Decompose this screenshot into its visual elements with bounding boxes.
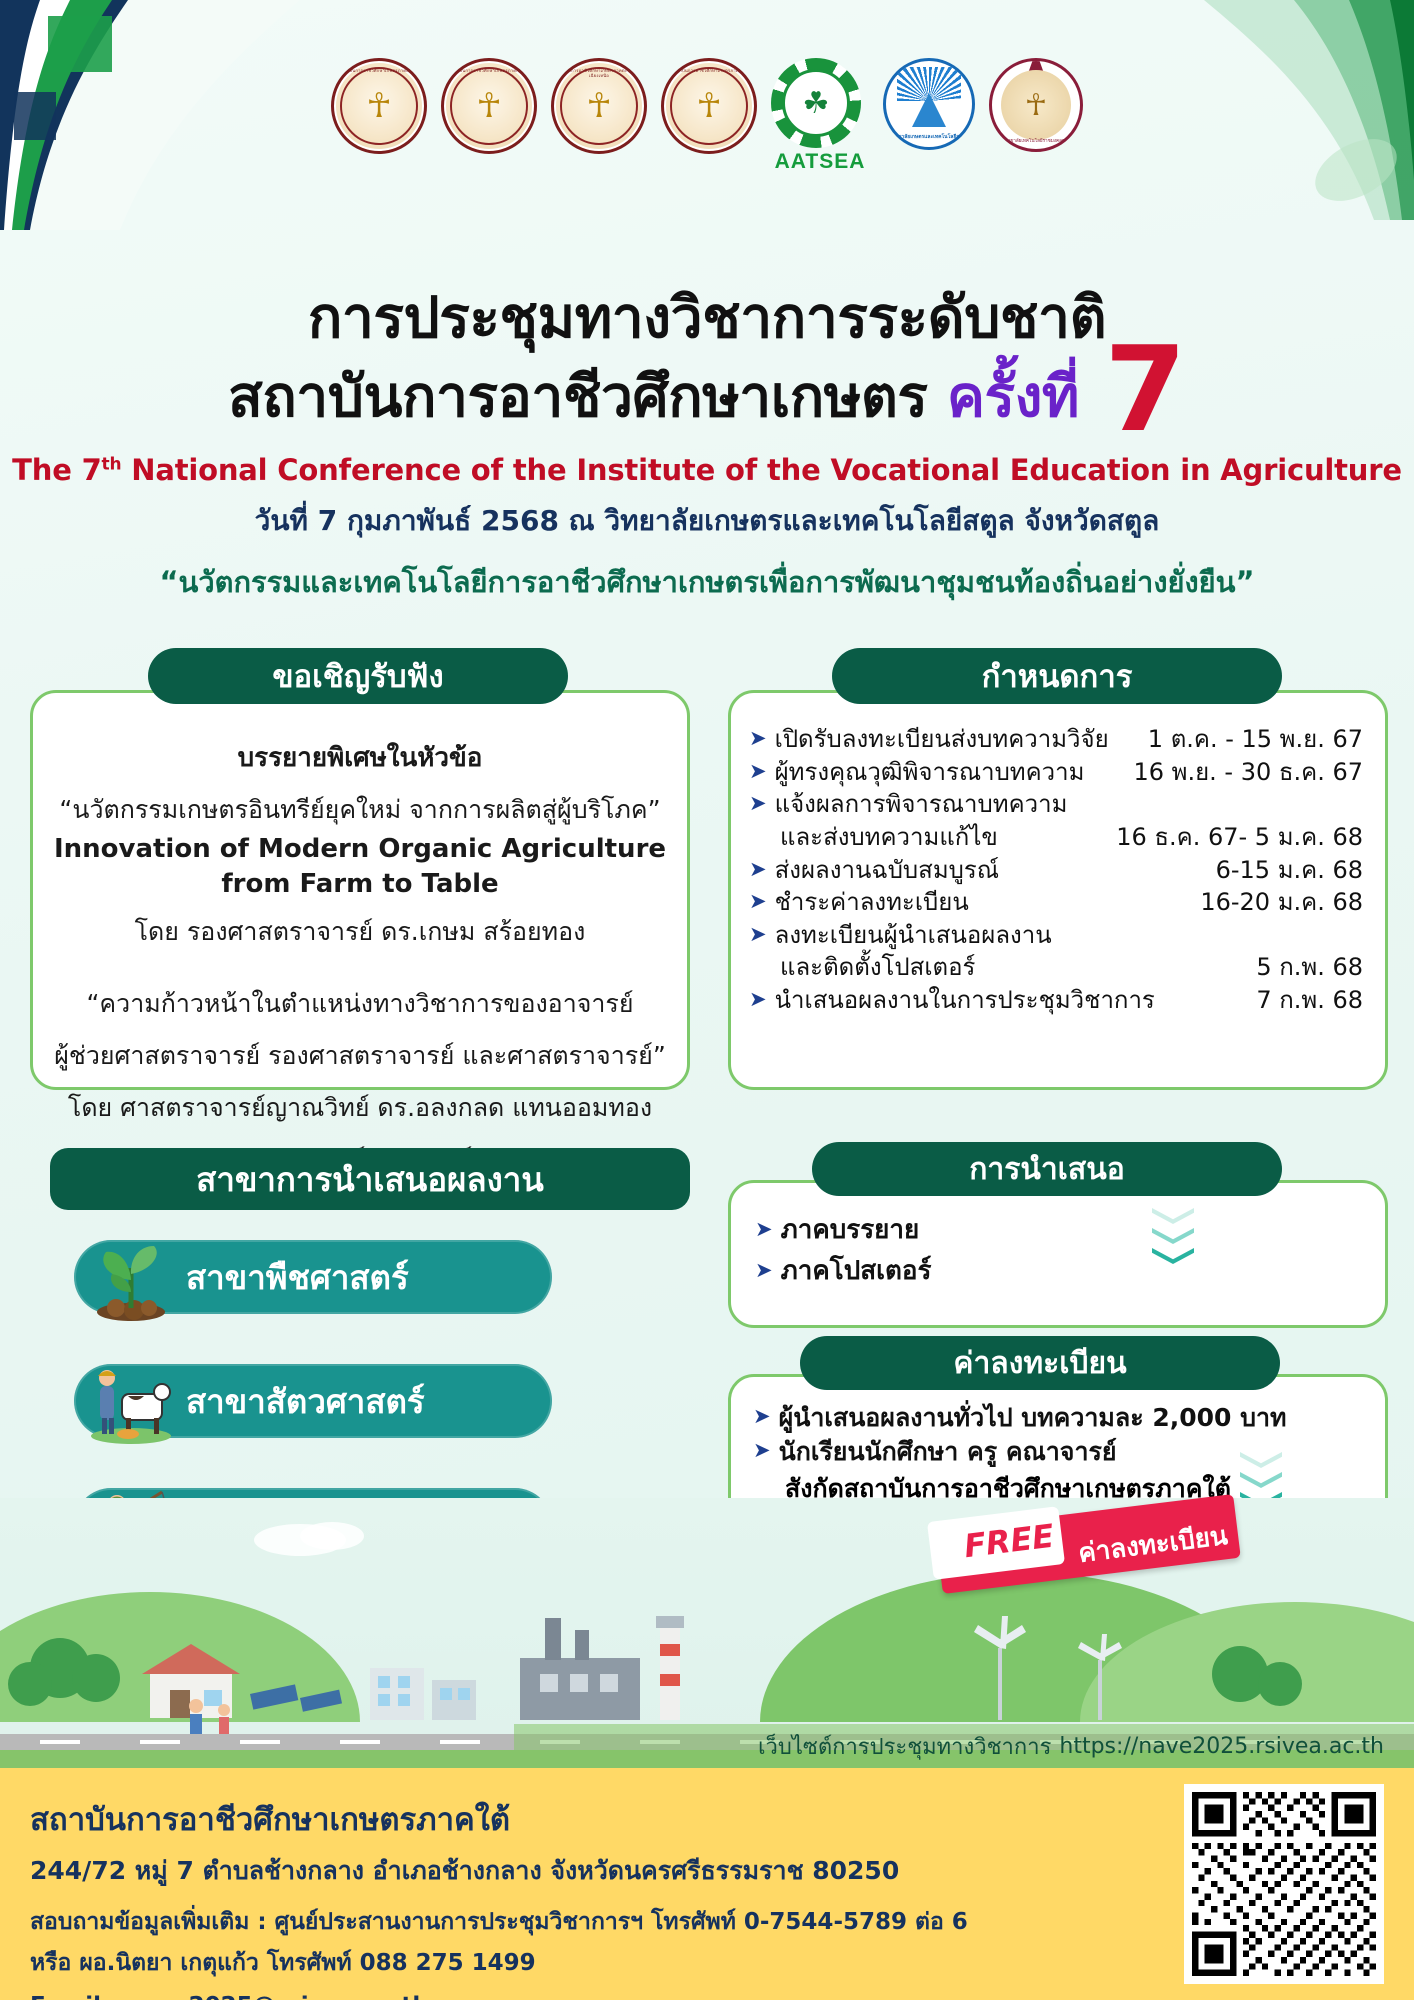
presentation-heading: การนำเสนอ <box>812 1142 1282 1196</box>
schedule-label: เปิดรับลงทะเบียนส่งบทความวิจัย <box>775 723 1138 756</box>
schedule-date: 7 ก.พ. 68 <box>1246 984 1363 1017</box>
website-label: เว็บไซต์การประชุมทางวิชาการ <box>758 1729 1051 1764</box>
schedule-row: ➤ นำเสนอผลงานในการประชุมวิชาการ 7 ก.พ. 6… <box>749 984 1363 1017</box>
invite-heading: ขอเชิญรับฟัง <box>148 648 568 704</box>
title-english-ordinal: th <box>102 454 122 474</box>
presentation-list: ➤ ภาคบรรยาย ➤ ภาคโปสเตอร์ <box>731 1183 1385 1291</box>
cattle-icon <box>74 1364 186 1438</box>
seal-logo-south: สถาบันการอาชีวศึกษาเกษตรภาคใต้ ☥ <box>661 58 757 154</box>
seal-logo-northeast: สถาบันการอาชีวศึกษาเกษตรภาคตะวันออกเฉียง… <box>551 58 647 154</box>
arrow-icon: ➤ <box>749 919 767 949</box>
footer-contact-2: หรือ ผอ.นิตยา เกตุแก้ว โทรศัพท์ 088 275 … <box>30 1945 1384 1981</box>
chevron-down-icon-stack <box>1152 1208 1194 1268</box>
schedule-panel: ➤ เปิดรับลงทะเบียนส่งบทความวิจัย 1 ต.ค. … <box>728 690 1388 1090</box>
title-english: The 7th National Conference of the Insti… <box>0 453 1414 487</box>
arrow-icon: ➤ <box>753 1401 771 1435</box>
schedule-label-cont: และส่งบทความแก้ไข <box>780 821 1106 854</box>
arrow-icon: ➤ <box>755 1255 773 1285</box>
seal-logo-north: สถาบันการอาชีวศึกษาเกษตรภาคเหนือ ☥ <box>331 58 427 154</box>
schedule-row: ➤ ลงทะเบียนผู้นำเสนอผลงาน <box>749 919 1363 952</box>
title-khrang: ครั้งที่ <box>947 364 1079 430</box>
schedule-date: 16 พ.ย. - 30 ธ.ค. 67 <box>1123 756 1363 789</box>
talk1-thai-title: “นวัตกรรมเกษตรอินทรีย์ยุคใหม่ จากการผลิต… <box>51 790 669 830</box>
aatsea-label: AATSEA <box>771 150 869 174</box>
presentation-label: ภาคโปสเตอร์ <box>781 1250 932 1291</box>
invite-topic-label: บรรยายพิเศษในหัวข้อ <box>51 737 669 778</box>
schedule-row-continuation: และส่งบทความแก้ไข 16 ธ.ค. 67- 5 ม.ค. 68 <box>749 821 1363 854</box>
emblem-glyph: ☥ <box>696 86 721 126</box>
arrow-icon: ➤ <box>749 854 767 884</box>
fee-list: ➤ ผู้นำเสนอผลงานทั่วไป บทความละ 2,000 บา… <box>731 1377 1385 1509</box>
branches-heading: สาขาการนำเสนอผลงาน <box>50 1148 690 1210</box>
schedule-label-cont: และติดตั้งโปสเตอร์ <box>780 951 1246 984</box>
schedule-date: 16 ธ.ค. 67- 5 ม.ค. 68 <box>1106 821 1363 854</box>
talk1-speaker: โดย รองศาสตราจารย์ ดร.เกษม สร้อยทอง <box>51 912 669 952</box>
schedule-label: ลงทะเบียนผู้นำเสนอผลงาน <box>775 919 1363 952</box>
seedling-icon <box>74 1240 186 1314</box>
website-url[interactable]: https://nave2025.rsivea.ac.th <box>1059 1734 1384 1759</box>
schedule-date: 16-20 ม.ค. 68 <box>1190 886 1363 919</box>
schedule-date: 6-15 ม.ค. 68 <box>1206 854 1363 887</box>
fee-heading: ค่าลงทะเบียน <box>800 1336 1280 1390</box>
free-badge: FREE ค่าลงทะเบียน <box>938 1512 1238 1576</box>
aatsea-logo: ☘ AATSEA <box>771 58 869 174</box>
arrow-icon: ➤ <box>749 756 767 786</box>
presentation-row: ➤ ภาคบรรยาย <box>755 1209 1385 1250</box>
emblem-glyph: ☥ <box>1001 70 1071 140</box>
schedule-row: ➤ ส่งผลงานฉบับสมบูรณ์ 6-15 ม.ค. 68 <box>749 854 1363 887</box>
footer-address: 244/72 หมู่ 7 ตำบลช้างกลาง อำเภอช้างกลาง… <box>30 1851 1384 1891</box>
logo-row: สถาบันการอาชีวศึกษาเกษตรภาคเหนือ ☥ สถาบั… <box>0 58 1414 208</box>
arrow-icon: ➤ <box>749 984 767 1014</box>
schedule-row: ➤ ผู้ทรงคุณวุฒิพิจารณาบทความ 16 พ.ย. - 3… <box>749 756 1363 789</box>
gear-icon: ☘ <box>771 58 861 148</box>
talk1-en-line1: Innovation of Modern Organic Agriculture <box>51 834 669 865</box>
logo-caption: วิทยาลัยเกษตรและเทคโนโลยีสตูล <box>886 133 972 141</box>
schedule-label: แจ้งผลการพิจารณาบทความ <box>775 788 1363 821</box>
footer-org: สถาบันการอาชีวศึกษาเกษตรภาคใต้ <box>30 1794 1384 1844</box>
fee-row: ➤ ผู้นำเสนอผลงานทั่วไป บทความละ 2,000 บา… <box>753 1401 1385 1435</box>
emblem-glyph: ☥ <box>586 86 611 126</box>
seal-caption: สถาบันการอาชีวศึกษาเกษตรภาคใต้ <box>664 68 754 73</box>
schedule-heading: กำหนดการ <box>832 648 1282 704</box>
branch-label: สาขาสัตวศาสตร์ <box>186 1375 425 1428</box>
title-line-2-text: สถาบันการอาชีวศึกษาเกษตร <box>228 364 928 430</box>
talk2-thai-line2: ผู้ช่วยศาสตราจารย์ รองศาสตราจารย์ และศาส… <box>51 1036 669 1076</box>
schedule-row: ➤ เปิดรับลงทะเบียนส่งบทความวิจัย 1 ต.ค. … <box>749 723 1363 756</box>
arrow-icon: ➤ <box>753 1435 771 1469</box>
title-english-pre: The 7 <box>12 453 101 487</box>
hands-icon: ☘ <box>771 58 861 148</box>
talk1-en-line2: from Farm to Table <box>51 869 669 900</box>
website-bar: เว็บไซต์การประชุมทางวิชาการ https://nave… <box>514 1724 1414 1768</box>
qr-code[interactable] <box>1184 1784 1384 1984</box>
schedule-label: ชำระค่าลงทะเบียน <box>775 886 1191 919</box>
seal-logo-central: สถาบันการอาชีวศึกษาเกษตรภาคกลาง ☥ <box>441 58 537 154</box>
fee-row: ➤ นักเรียนนักศึกษา ครู คณาจารย์ <box>753 1435 1385 1469</box>
arrow-icon: ➤ <box>749 886 767 916</box>
presentation-row: ➤ ภาคโปสเตอร์ <box>755 1250 1385 1291</box>
seal-caption: สถาบันการอาชีวศึกษาเกษตรภาคเหนือ <box>334 68 424 73</box>
talk2-speaker-line1: โดย ศาสตราจารย์ญาณวิทย์ ดร.อลงกลด แทนออม… <box>51 1088 669 1128</box>
emblem-glyph: ☥ <box>366 86 391 126</box>
fee-label: ผู้นำเสนอผลงานทั่วไป บทความละ 2,000 บาท <box>779 1401 1287 1435</box>
conference-theme: “นวัตกรรมและเทคโนโลยีการอาชีวศึกษาเกษตรเ… <box>0 559 1414 605</box>
invite-panel: บรรยายพิเศษในหัวข้อ “นวัตกรรมเกษตรอินทรี… <box>30 690 690 1090</box>
seal-caption: สถาบันการอาชีวศึกษาเกษตรภาคตะวันออกเฉียง… <box>554 68 644 79</box>
branch-pill-animal-science[interactable]: สาขาสัตวศาสตร์ <box>74 1364 552 1438</box>
schedule-list: ➤ เปิดรับลงทะเบียนส่งบทความวิจัย 1 ต.ค. … <box>731 693 1385 1017</box>
presentation-label: ภาคบรรยาย <box>781 1209 920 1250</box>
rmutsv-logo: ☥ มหาวิทยาลัยเทคโนโลยีราชมงคลศรีวิชัย <box>989 58 1083 152</box>
poster-root: สถาบันการอาชีวศึกษาเกษตรภาคเหนือ ☥ สถาบั… <box>0 0 1414 2000</box>
emblem-glyph: ☥ <box>476 86 501 126</box>
arrow-icon: ➤ <box>749 788 767 818</box>
seal-caption: สถาบันการอาชีวศึกษาเกษตรภาคกลาง <box>444 68 534 73</box>
talk2-thai-line1: “ความก้าวหน้าในตำแหน่งทางวิชาการของอาจาร… <box>51 984 669 1024</box>
title-line-1: การประชุมทางวิชาการระดับชาติ <box>0 288 1414 348</box>
schedule-row: ➤ ชำระค่าลงทะเบียน 16-20 ม.ค. 68 <box>749 886 1363 919</box>
title-line-2: สถาบันการอาชีวศึกษาเกษตร ครั้งที่ 7 <box>0 348 1414 431</box>
presentation-panel: ➤ ภาคบรรยาย ➤ ภาคโปสเตอร์ <box>728 1180 1388 1328</box>
title-english-post: National Conference of the Institute of … <box>121 453 1401 487</box>
logo-caption: มหาวิทยาลัยเทคโนโลยีราชมงคลศรีวิชัย <box>992 138 1080 145</box>
branch-pill-plant-science[interactable]: สาขาพืชศาสตร์ <box>74 1240 552 1314</box>
schedule-row: ➤ แจ้งผลการพิจารณาบทความ <box>749 788 1363 821</box>
branch-label: สาขาพืชศาสตร์ <box>186 1251 409 1304</box>
footer-contact-1: สอบถามข้อมูลเพิ่มเติม : ศูนย์ประสานงานกา… <box>30 1904 1384 1940</box>
kasetsatun-logo: วิทยาลัยเกษตรและเทคโนโลยีสตูล <box>883 58 975 150</box>
date-venue: วันที่ 7 กุมภาพันธ์ 2568 ณ วิทยาลัยเกษตร… <box>0 499 1414 543</box>
footer-email: Email : nave2025@rsivea.ac.th <box>30 1993 1384 2000</box>
schedule-row-continuation: และติดตั้งโปสเตอร์ 5 ก.พ. 68 <box>749 951 1363 984</box>
schedule-date: 5 ก.พ. 68 <box>1246 951 1363 984</box>
schedule-date: 1 ต.ค. - 15 พ.ย. 67 <box>1138 723 1363 756</box>
arrow-icon: ➤ <box>755 1214 773 1244</box>
title-number: 7 <box>1104 320 1186 458</box>
title-block: การประชุมทางวิชาการระดับชาติ สถาบันการอา… <box>0 288 1414 605</box>
pagoda-icon <box>912 93 946 127</box>
arrow-icon: ➤ <box>749 723 767 753</box>
schedule-label: ส่งผลงานฉบับสมบูรณ์ <box>775 854 1206 887</box>
footer-bar: สถาบันการอาชีวศึกษาเกษตรภาคใต้ 244/72 หม… <box>0 1768 1414 2000</box>
fee-label: นักเรียนนักศึกษา ครู คณาจารย์ <box>779 1435 1117 1469</box>
schedule-label: ผู้ทรงคุณวุฒิพิจารณาบทความ <box>775 756 1124 789</box>
schedule-label: นำเสนอผลงานในการประชุมวิชาการ <box>775 984 1247 1017</box>
